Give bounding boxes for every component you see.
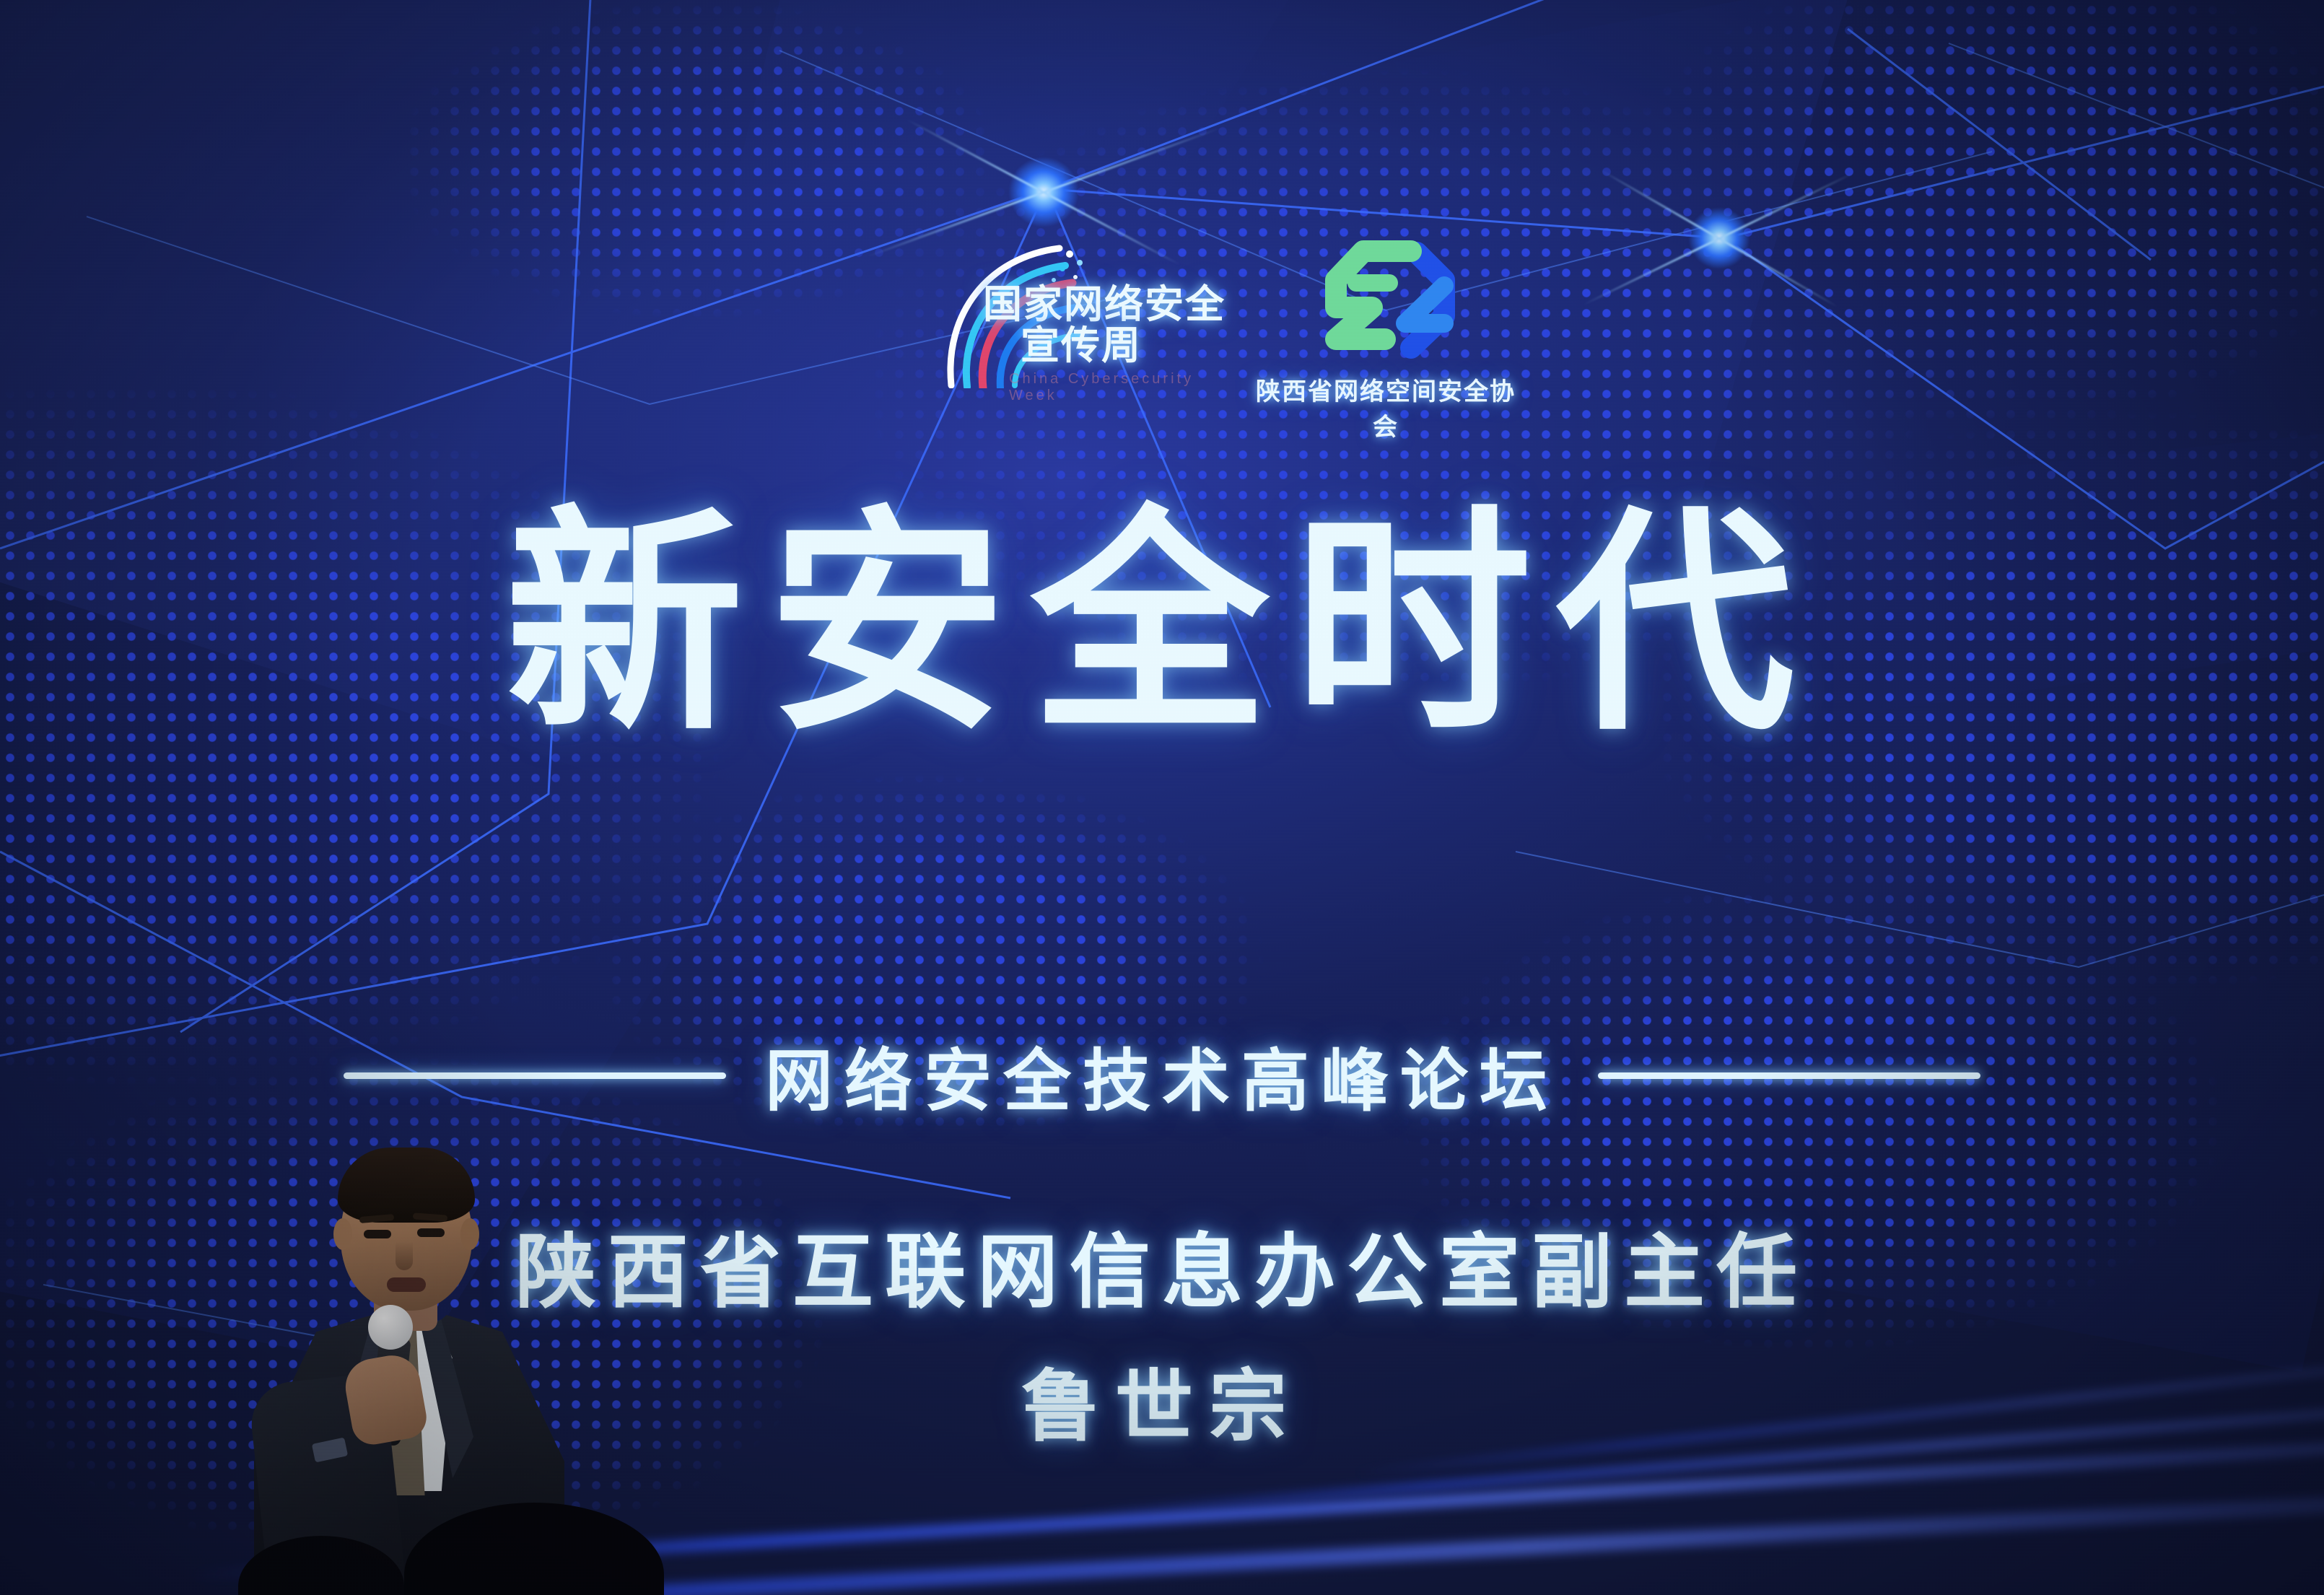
logo-row: 国家网络安全 宣传周 China Cybersecurity Week 陕西省网… xyxy=(938,238,1516,419)
logo-shaanxi-mark-icon xyxy=(1303,238,1469,365)
microphone-head-icon xyxy=(368,1305,413,1350)
logo-cnsw-line2: 宣传周 xyxy=(1021,325,1236,367)
logo-national-cybersecurity-week: 国家网络安全 宣传周 China Cybersecurity Week xyxy=(938,244,1241,396)
presenter-hair xyxy=(338,1148,475,1223)
stage-screen: 国家网络安全 宣传周 China Cybersecurity Week 陕西省网… xyxy=(0,0,2324,1595)
rule-right xyxy=(1598,1072,1980,1079)
presenter-ear-left xyxy=(333,1218,352,1250)
presenter-nose xyxy=(396,1241,413,1270)
presenter-eye-right xyxy=(417,1228,445,1237)
forum-subtitle: 网络安全技术高峰论坛 xyxy=(765,1026,1559,1124)
subtitle-row: 网络安全技术高峰论坛 xyxy=(0,1032,2324,1119)
glow-node-icon xyxy=(1009,157,1078,227)
light-streak xyxy=(1071,1381,2324,1519)
logo-shaanxi-caption: 陕西省网络空间安全协会 xyxy=(1256,372,1516,442)
presenter-ear-right xyxy=(460,1218,479,1250)
rule-left xyxy=(344,1072,726,1079)
presenter-eye-left xyxy=(364,1230,391,1238)
main-title: 新安全时代 xyxy=(0,505,2324,743)
logo-shaanxi-association: 陕西省网络空间安全协会 xyxy=(1256,238,1516,419)
glow-node-icon xyxy=(1689,208,1749,268)
logo-cnsw-line1: 国家网络安全 xyxy=(983,284,1236,325)
presenter-mouth xyxy=(387,1277,426,1292)
logo-cnsw-english: China Cybersecurity Week xyxy=(1009,371,1236,404)
